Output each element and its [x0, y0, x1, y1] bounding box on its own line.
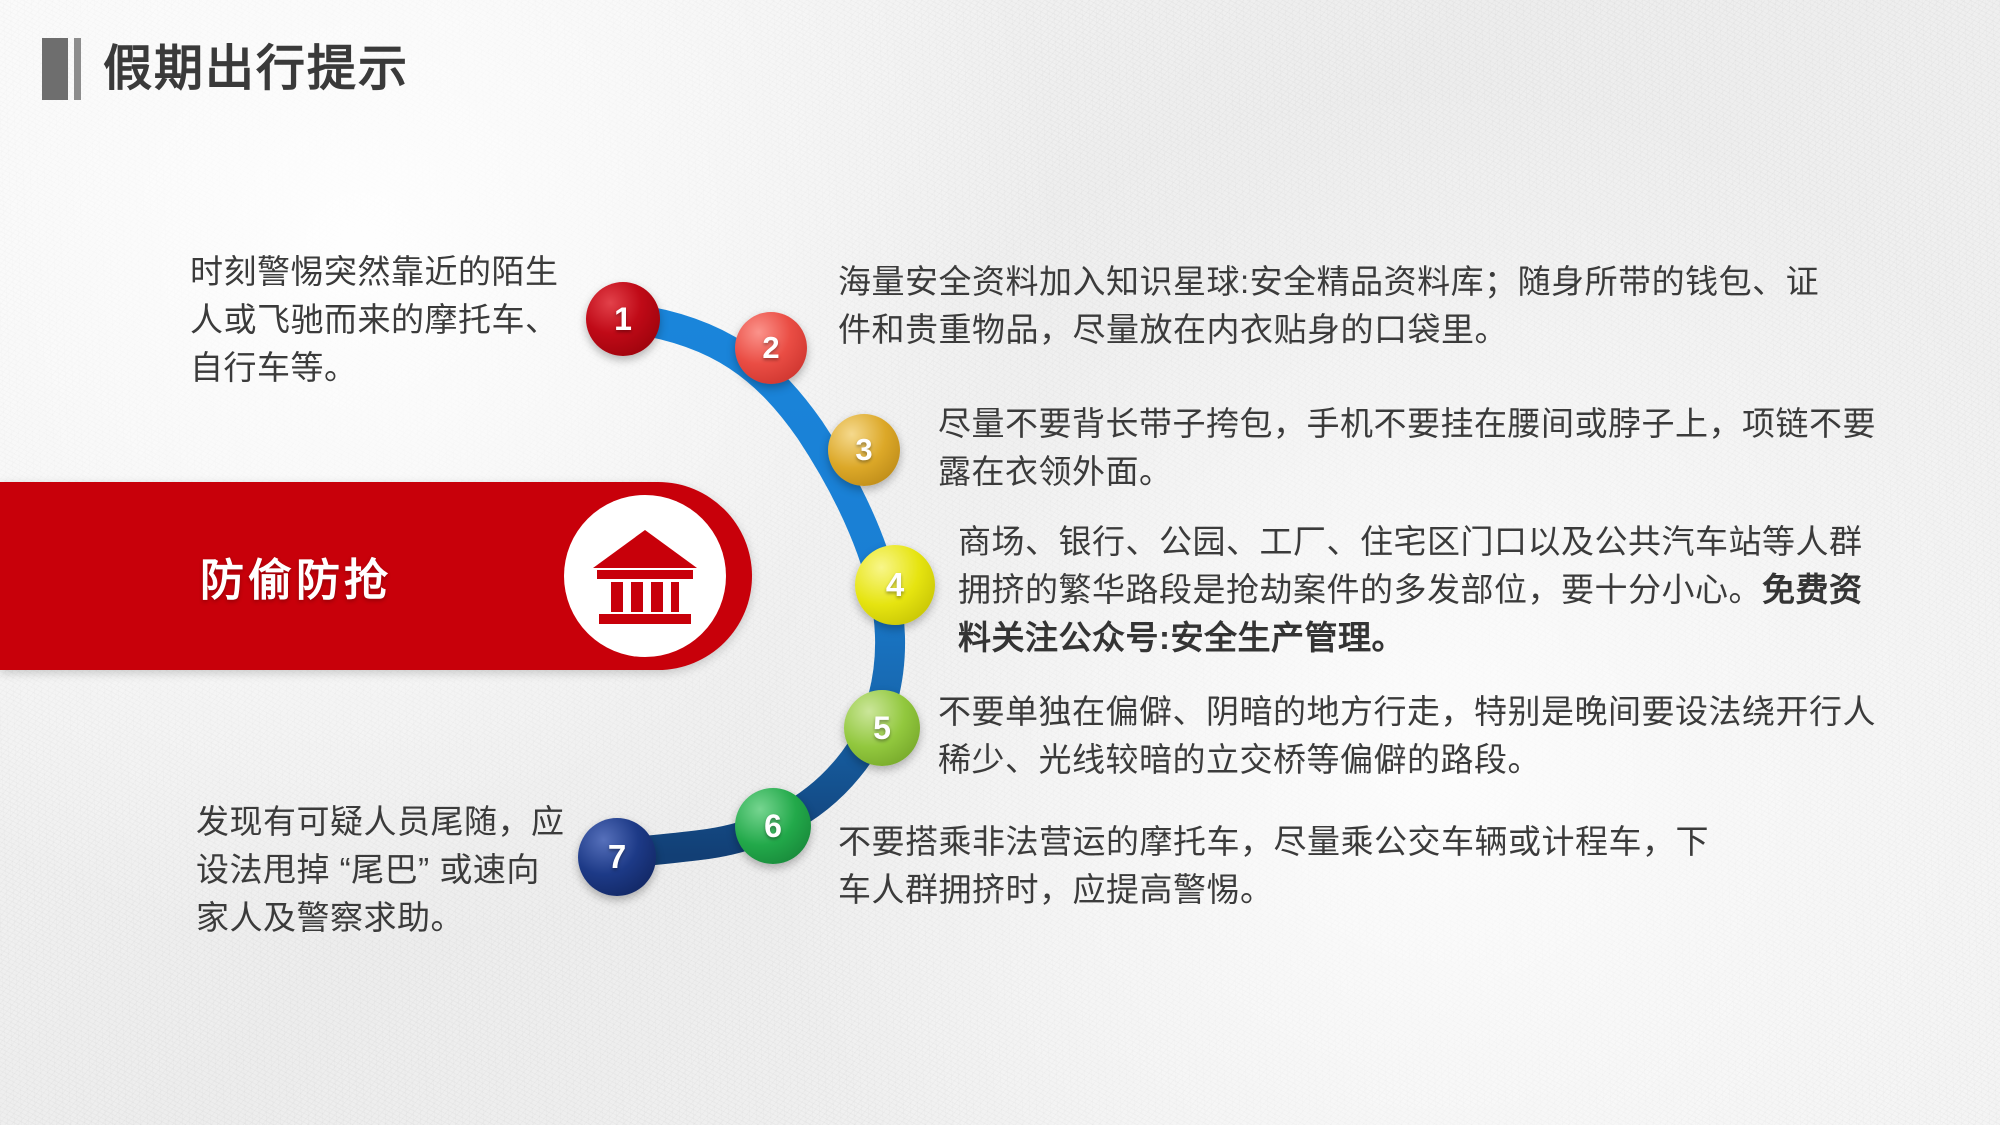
flow-node-6-number: 6: [764, 808, 782, 845]
flow-node-7[interactable]: 7: [578, 818, 656, 896]
header-accent-bar-thin: [74, 38, 81, 100]
slide-header: 假期出行提示: [0, 34, 409, 104]
flow-node-3[interactable]: 3: [828, 414, 900, 486]
flow-node-4-number: 4: [886, 566, 904, 604]
flow-node-5-number: 5: [873, 710, 891, 747]
flow-node-1-number: 1: [614, 301, 632, 338]
header-accent-bars: [42, 38, 81, 100]
tip-text-4-main: 商场、银行、公园、工厂、住宅区门口以及公共汽车站等人群拥挤的繁华路段是抢劫案件的…: [958, 523, 1863, 608]
flow-node-2-number: 2: [762, 330, 779, 366]
banner-label: 防偷防抢: [200, 544, 392, 608]
tip-text-6: 不要搭乘非法营运的摩托车，尽量乘公交车辆或计程车，下车人群拥挤时，应提高警惕。: [838, 818, 1738, 914]
header-accent-bar-thick: [42, 38, 68, 100]
flow-node-3-number: 3: [855, 432, 872, 468]
flow-node-6[interactable]: 6: [735, 788, 811, 864]
tip-text-1: 时刻警惕突然靠近的陌生人或飞驰而来的摩托车、自行车等。: [190, 248, 570, 392]
tip-text-2: 海量安全资料加入知识星球:安全精品资料库；随身所带的钱包、证件和贵重物品，尽量放…: [838, 258, 1836, 354]
flow-node-5[interactable]: 5: [844, 690, 920, 766]
page-title: 假期出行提示: [103, 45, 409, 94]
flow-node-7-number: 7: [608, 838, 626, 876]
tip-text-7: 发现有可疑人员尾随，应设法甩掉 “尾巴” 或速向家人及警察求助。: [196, 798, 568, 942]
bank-building-icon: [564, 495, 726, 657]
slide-canvas: 假期出行提示 防偷防抢: [0, 0, 2000, 1125]
category-banner: 防偷防抢: [0, 482, 752, 670]
tip-text-4: 商场、银行、公园、工厂、住宅区门口以及公共汽车站等人群拥挤的繁华路段是抢劫案件的…: [958, 518, 1878, 662]
tip-text-5: 不要单独在偏僻、阴暗的地方行走，特别是晚间要设法绕开行人稀少、光线较暗的立交桥等…: [938, 688, 1878, 784]
flow-node-1[interactable]: 1: [586, 282, 660, 356]
flow-node-4[interactable]: 4: [855, 545, 935, 625]
tip-text-3: 尽量不要背长带子挎包，手机不要挂在腰间或脖子上，项链不要露在衣领外面。: [938, 400, 1878, 496]
tip-text-5-body: 不要单独在偏僻、阴暗的地方行走，特别是晚间要设法绕开行人稀少、光线较暗的立交桥等…: [938, 693, 1876, 778]
flow-node-2[interactable]: 2: [735, 312, 807, 384]
